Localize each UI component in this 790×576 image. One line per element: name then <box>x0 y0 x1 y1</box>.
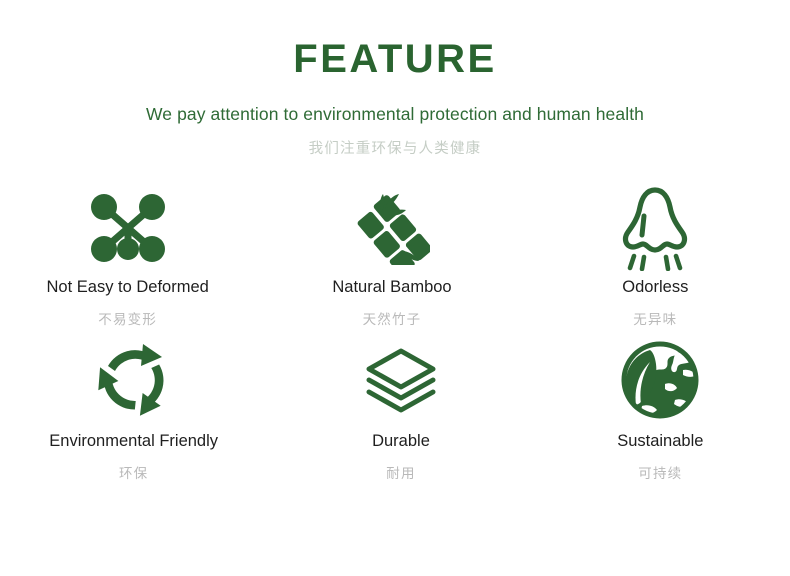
feature-grid: Not Easy to Deformed 不易变形 <box>15 184 775 484</box>
feature-label-chinese: 耐用 <box>386 462 415 482</box>
feature-label: Odorless <box>622 278 688 298</box>
section-subtitle-chinese: 我们注重环保与人类健康 <box>0 137 790 158</box>
feature-item-environmental-friendly: Environmental Friendly 环保 <box>7 334 260 484</box>
section-header: FEATURE We pay attention to environmenta… <box>0 0 790 158</box>
recycle-icon <box>94 334 174 426</box>
layers-stack-icon <box>364 334 438 426</box>
section-subtitle: We pay attention to environmental protec… <box>0 104 790 125</box>
feature-label-chinese: 不易变形 <box>98 308 157 328</box>
bamboo-icon <box>354 184 430 272</box>
feature-label: Sustainable <box>617 432 703 452</box>
feature-label-chinese: 可持续 <box>638 462 682 482</box>
globe-leaf-icon <box>620 334 700 426</box>
feature-item-durable: Durable 耐用 <box>274 334 527 484</box>
feature-item-not-easy-to-deformed: Not Easy to Deformed 不易变形 <box>1 184 254 334</box>
feature-item-odorless: Odorless 无异味 <box>529 184 782 334</box>
feature-item-natural-bamboo: Natural Bamboo 天然竹子 <box>265 184 518 334</box>
feature-label-chinese: 环保 <box>119 462 148 482</box>
nose-icon <box>618 184 692 272</box>
feature-item-sustainable: Sustainable 可持续 <box>534 334 787 484</box>
page-title: FEATURE <box>0 36 790 82</box>
feature-section: FEATURE We pay attention to environmenta… <box>0 0 790 576</box>
feature-label: Not Easy to Deformed <box>47 278 209 298</box>
feature-label: Durable <box>372 432 430 452</box>
feature-label: Natural Bamboo <box>332 278 451 298</box>
feature-label-chinese: 无异味 <box>633 308 677 328</box>
feature-label-chinese: 天然竹子 <box>363 308 422 328</box>
feature-label: Environmental Friendly <box>49 432 218 452</box>
molecule-lattice-icon <box>89 184 167 272</box>
